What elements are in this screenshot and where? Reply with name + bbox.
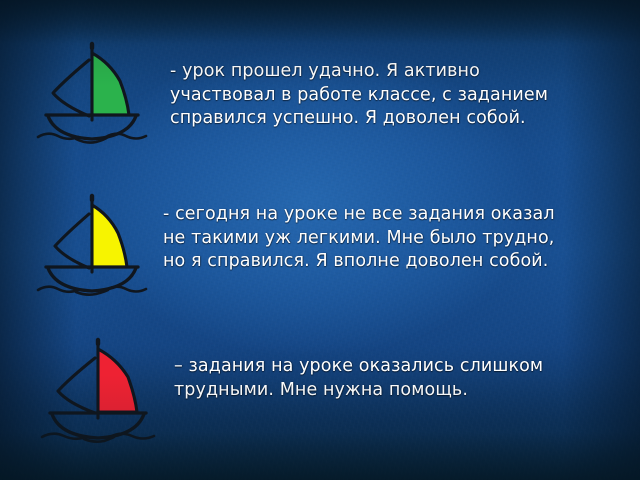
slide-canvas: - урок прошел удачно. Я активно участвов… [0, 0, 640, 480]
sailboat-icon [38, 334, 158, 444]
text-line: - урок прошел удачно. Я активно [170, 60, 548, 84]
text-line: - сегодня на уроке не все задания оказал [163, 203, 555, 227]
sailboat-green-illustration [32, 36, 152, 146]
jib-sail-outline [58, 358, 95, 413]
main-sail-shape [92, 205, 126, 267]
jib-sail-outline [55, 214, 89, 268]
sailboat-icon [32, 188, 152, 298]
text-line: участвовал в работе классе, с заданием [170, 84, 548, 108]
text-line: но я справился. Я вполне доволен собой. [163, 250, 555, 274]
sailboat-red-illustration [38, 334, 158, 444]
text-line: не такими уж легкими. Мне было трудно, [163, 227, 555, 251]
text-line: трудными. Мне нужна помощь. [174, 379, 543, 403]
text-line: справился успешно. Я доволен собой. [170, 107, 548, 131]
text-line: – задания на уроке оказались слишком [174, 355, 543, 379]
jib-sail-outline [53, 60, 89, 116]
text-block-green: - урок прошел удачно. Я активно участвов… [170, 60, 548, 131]
sailboat-icon [32, 36, 152, 146]
text-block-red: – задания на уроке оказались слишком тру… [174, 355, 543, 402]
text-block-yellow: - сегодня на уроке не все задания оказал… [163, 203, 555, 274]
sailboat-yellow-illustration [32, 188, 152, 298]
